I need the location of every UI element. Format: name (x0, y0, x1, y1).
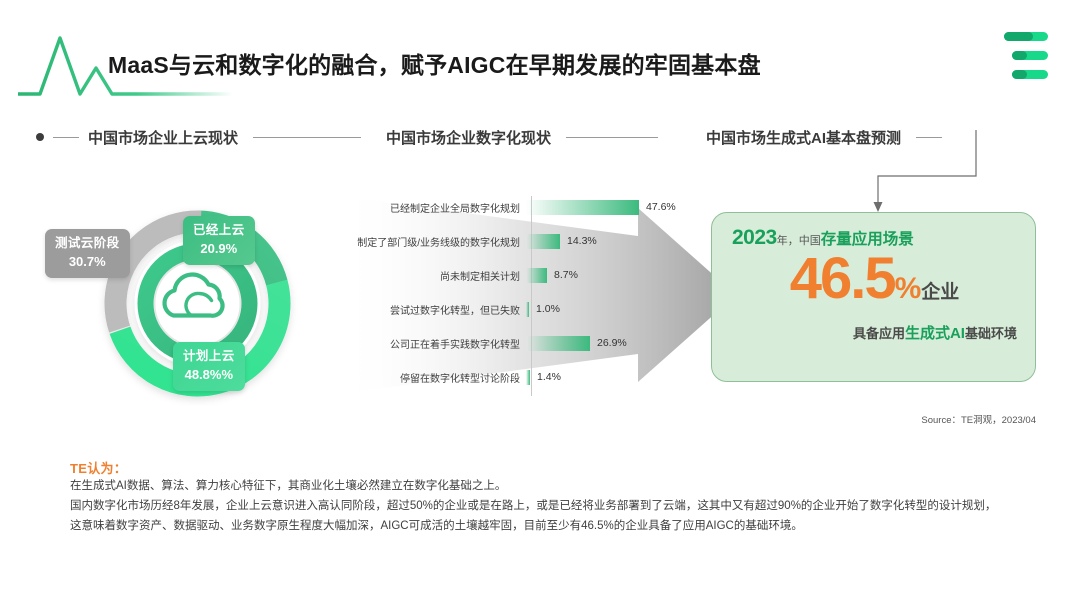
forecast-year: 2023 (732, 226, 777, 249)
forecast-line3-highlight: 生成式AI (905, 325, 965, 342)
digitalization-bar-chart: 已经制定企业全局数字化规划 47.6% 制定了部门级/业务线级的数字化规划 14… (338, 188, 738, 403)
bar-track: 1.0% (526, 296, 738, 322)
forecast-percent-sign: % (895, 272, 922, 305)
bar-row: 制定了部门级/业务线级的数字化规划 14.3% (338, 228, 738, 254)
bar-row: 尚未制定相关计划 8.7% (338, 262, 738, 288)
bar-track: 8.7% (526, 262, 738, 288)
bar-label: 公司正在着手实践数字化转型 (338, 336, 526, 351)
bar-track: 47.6% (526, 194, 738, 220)
bar-row: 停留在数字化转型讨论阶段 1.4% (338, 364, 738, 390)
badge-value: 48.8%% (183, 367, 235, 383)
forecast-line3-pre: 具备应用 (853, 326, 905, 341)
badge-label: 计划上云 (183, 349, 235, 365)
logo-bar-2 (1012, 51, 1048, 60)
badge-label: 已经上云 (193, 223, 245, 239)
forecast-line-1: 2023年，中国存量应用场景 (732, 227, 1017, 248)
cloud-adoption-donut-chart: 测试云阶段 30.7% 已经上云 20.9% 计划上云 48.8%% (40, 196, 340, 411)
note-paragraph: 这意味着数字资产、数据驱动、业务数字原生程度大幅加深，AIGC可成活的土壤越牢固… (70, 517, 1012, 537)
note-title: TE认为： (70, 458, 1012, 477)
genai-forecast-card: 2023年，中国存量应用场景 46.5%企业 具备应用生成式AI基础环境 (711, 212, 1036, 382)
page-title: MaaS与云和数字化的融合，赋予AIGC在早期发展的牢固基本盘 (108, 46, 761, 80)
bar-fill (526, 268, 547, 283)
bar-fill (526, 200, 639, 215)
bar-row: 已经制定企业全局数字化规划 47.6% (338, 194, 738, 220)
bar-label: 停留在数字化转型讨论阶段 (338, 370, 526, 385)
bars-layer: 已经制定企业全局数字化规划 47.6% 制定了部门级/业务线级的数字化规划 14… (338, 188, 738, 403)
section-header-digital-status: 中国市场企业数字化现状 (386, 125, 658, 149)
badge-value: 20.9% (193, 241, 245, 257)
bar-label: 尝试过数字化转型，但已失败 (338, 302, 526, 317)
bar-row: 公司正在着手实践数字化转型 26.9% (338, 330, 738, 356)
bar-value: 47.6% (646, 201, 676, 213)
forecast-line3-post: 基础环境 (965, 326, 1017, 341)
bar-value: 1.4% (537, 371, 561, 383)
note-paragraph: 在生成式AI数据、算法、算力核心特征下，其商业化土壤必然建立在数字化基础之上。 (70, 477, 1012, 497)
bar-fill (526, 336, 590, 351)
donut-badge-testing: 测试云阶段 30.7% (45, 229, 130, 278)
bar-fill (526, 234, 560, 249)
bar-track: 1.4% (526, 364, 738, 390)
bullet-dot-icon (36, 133, 44, 141)
section-label: 中国市场企业数字化现状 (386, 127, 551, 148)
bar-fill (526, 302, 529, 317)
rule (566, 137, 658, 138)
bar-fill (526, 370, 530, 385)
rule (53, 137, 79, 138)
forecast-line-3: 具备应用生成式AI基础环境 (732, 322, 1017, 343)
note-paragraph: 国内数字化市场历经8年发展，企业上云意识进入高认同阶段，超过50%的企业或是在路… (70, 497, 1012, 517)
forecast-year-suffix: 年 (777, 235, 788, 247)
bar-label: 已经制定企业全局数字化规划 (338, 200, 526, 215)
logo-bar-3 (1012, 70, 1048, 79)
bar-track: 26.9% (526, 330, 738, 356)
bar-label: 制定了部门级/业务线级的数字化规划 (338, 234, 526, 249)
section-header-cloud-status: 中国市场企业上云现状 (36, 125, 361, 149)
badge-value: 30.7% (55, 254, 120, 270)
te-opinion-note: TE认为： 在生成式AI数据、算法、算力核心特征下，其商业化土壤必然建立在数字化… (46, 444, 1034, 560)
bar-value: 14.3% (567, 235, 597, 247)
donut-badge-planned-cloud: 计划上云 48.8%% (173, 342, 245, 391)
logo-bar-1 (1004, 32, 1048, 41)
forecast-number: 46.5 (790, 246, 895, 311)
badge-label: 测试云阶段 (55, 236, 120, 252)
slide-canvas: MaaS与云和数字化的融合，赋予AIGC在早期发展的牢固基本盘 中国市场企业上云… (0, 0, 1080, 608)
bar-row: 尝试过数字化转型，但已失败 1.0% (338, 296, 738, 322)
section-label: 中国市场企业上云现状 (88, 127, 238, 148)
rule (253, 137, 361, 138)
forecast-entity-label: 企业 (921, 282, 959, 303)
bar-value: 26.9% (597, 337, 627, 349)
forecast-big-number-row: 46.5%企业 (732, 250, 1017, 308)
connector-arrow-icon (860, 128, 990, 218)
bar-track: 14.3% (526, 228, 738, 254)
te-logo (1004, 32, 1050, 82)
bar-value: 8.7% (554, 269, 578, 281)
donut-badge-already-cloud: 已经上云 20.9% (183, 216, 255, 265)
source-note: Source：TE洞观，2023/04 (921, 412, 1036, 426)
bar-value: 1.0% (536, 303, 560, 315)
bar-label: 尚未制定相关计划 (338, 268, 526, 283)
